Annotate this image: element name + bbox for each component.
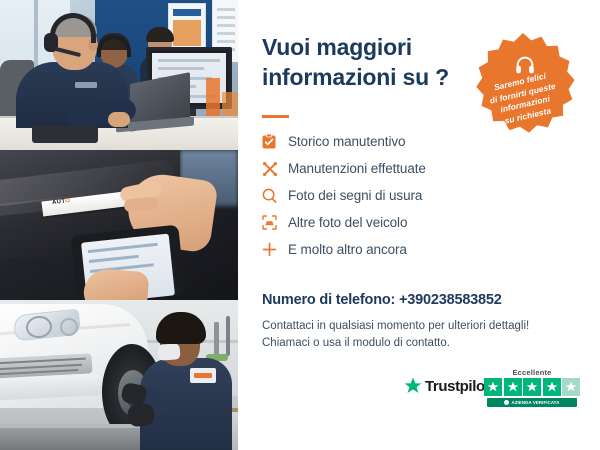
verified-label: AZIENDA VERIFICATA (511, 400, 559, 405)
feature-label: Foto dei segni di usura (288, 188, 422, 203)
uniform-badge (190, 368, 216, 383)
contact-line-2: Chiamaci o usa il modulo di contatto. (262, 335, 582, 352)
phone-line: Numero di telefono: +390238583852 (262, 292, 502, 308)
car-label-photo: AUTO (0, 150, 238, 300)
lift-platform (0, 428, 152, 450)
list-item: Manutenzioni effettuate (262, 155, 562, 182)
contact-line-1: Contattaci in qualsiasi momento per ulte… (262, 318, 582, 335)
verified-business-badge: AZIENDA VERIFICATA (487, 398, 577, 407)
trustpilot-rating: Eccellente AZIEND (480, 368, 584, 407)
phone-label: Numero di telefono: (262, 292, 395, 308)
phone-number[interactable]: +390238583852 (399, 292, 502, 308)
wall-tool-2 (226, 316, 230, 356)
feature-label: E molto altro ancora (288, 242, 407, 257)
magnifier-icon (262, 188, 288, 203)
agent-hand (108, 112, 130, 127)
verified-check-icon (504, 400, 509, 405)
contact-description: Contattaci in qualsiasi momento per ulte… (262, 318, 582, 352)
poster-header-bar (173, 9, 201, 16)
star-1 (484, 378, 502, 396)
list-item: Foto dei segni di usura (262, 182, 562, 209)
photo-column: AUTO (0, 0, 238, 450)
feature-label: Storico manutentivo (288, 134, 405, 149)
agent-2-hair (146, 27, 174, 42)
scan-car-icon (262, 215, 288, 230)
mechanic-wheel-photo (0, 300, 238, 450)
list-item: Storico manutentivo (262, 128, 562, 155)
hood-emblem (60, 318, 78, 336)
trustpilot-star-icon (404, 377, 422, 395)
star-rating (480, 378, 584, 396)
promo-banner: AUTO (0, 0, 600, 450)
page-title: Vuoi maggiori informazioni su ? (262, 32, 477, 92)
rating-word: Eccellente (480, 368, 584, 377)
clipboard-check-icon (262, 134, 288, 149)
star-2 (504, 378, 522, 396)
feature-label: Manutenzioni effettuate (288, 161, 426, 176)
feature-label: Altre foto del veicolo (288, 215, 407, 230)
list-item: Altre foto del veicolo (262, 209, 562, 236)
tools-cross-icon (262, 161, 288, 177)
plus-icon (262, 242, 288, 257)
trustpilot-logo: Trustpilot (404, 377, 489, 395)
star-4 (543, 378, 561, 396)
headline-line-2: informazioni su ? (262, 62, 477, 92)
star-3 (523, 378, 541, 396)
list-item: E molto altro ancora (262, 236, 562, 263)
feature-list: Storico manutentivo Manutenzioni effettu… (262, 128, 562, 263)
headline-line-1: Vuoi maggiori (262, 32, 477, 62)
call-center-photo (0, 0, 238, 150)
polo-logo (75, 82, 97, 88)
mechanic-face-mask (157, 343, 180, 360)
headline-divider (262, 115, 289, 118)
star-5 (562, 378, 580, 396)
trustpilot-badge[interactable]: Trustpilot Eccellente (398, 368, 588, 418)
desk-tablet (32, 126, 98, 143)
request-info-badge: Saremo felici di fornirti queste informa… (468, 32, 578, 142)
